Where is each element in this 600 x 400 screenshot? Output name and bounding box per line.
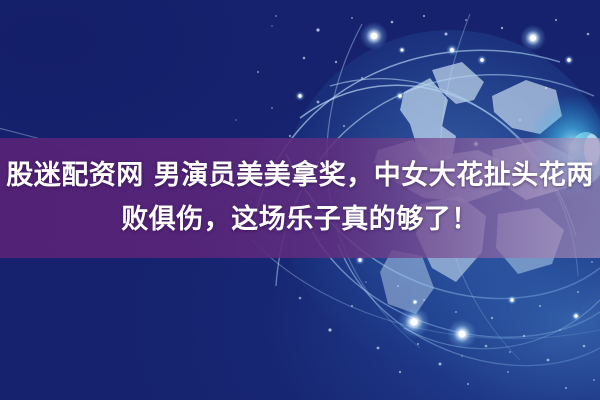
headline-text-block: 股迷配资网 男演员美美拿奖，中女大花扯头花两 败俱伤，这场乐子真的够了！ [0, 138, 600, 258]
headline-line-1: 股迷配资网 男演员美美拿奖，中女大花扯头花两 [6, 157, 593, 195]
news-banner-image: 股迷配资网 男演员美美拿奖，中女大花扯头花两 败俱伤，这场乐子真的够了！ [0, 0, 600, 400]
headline-line-2: 败俱伤，这场乐子真的够了！ [121, 201, 479, 239]
